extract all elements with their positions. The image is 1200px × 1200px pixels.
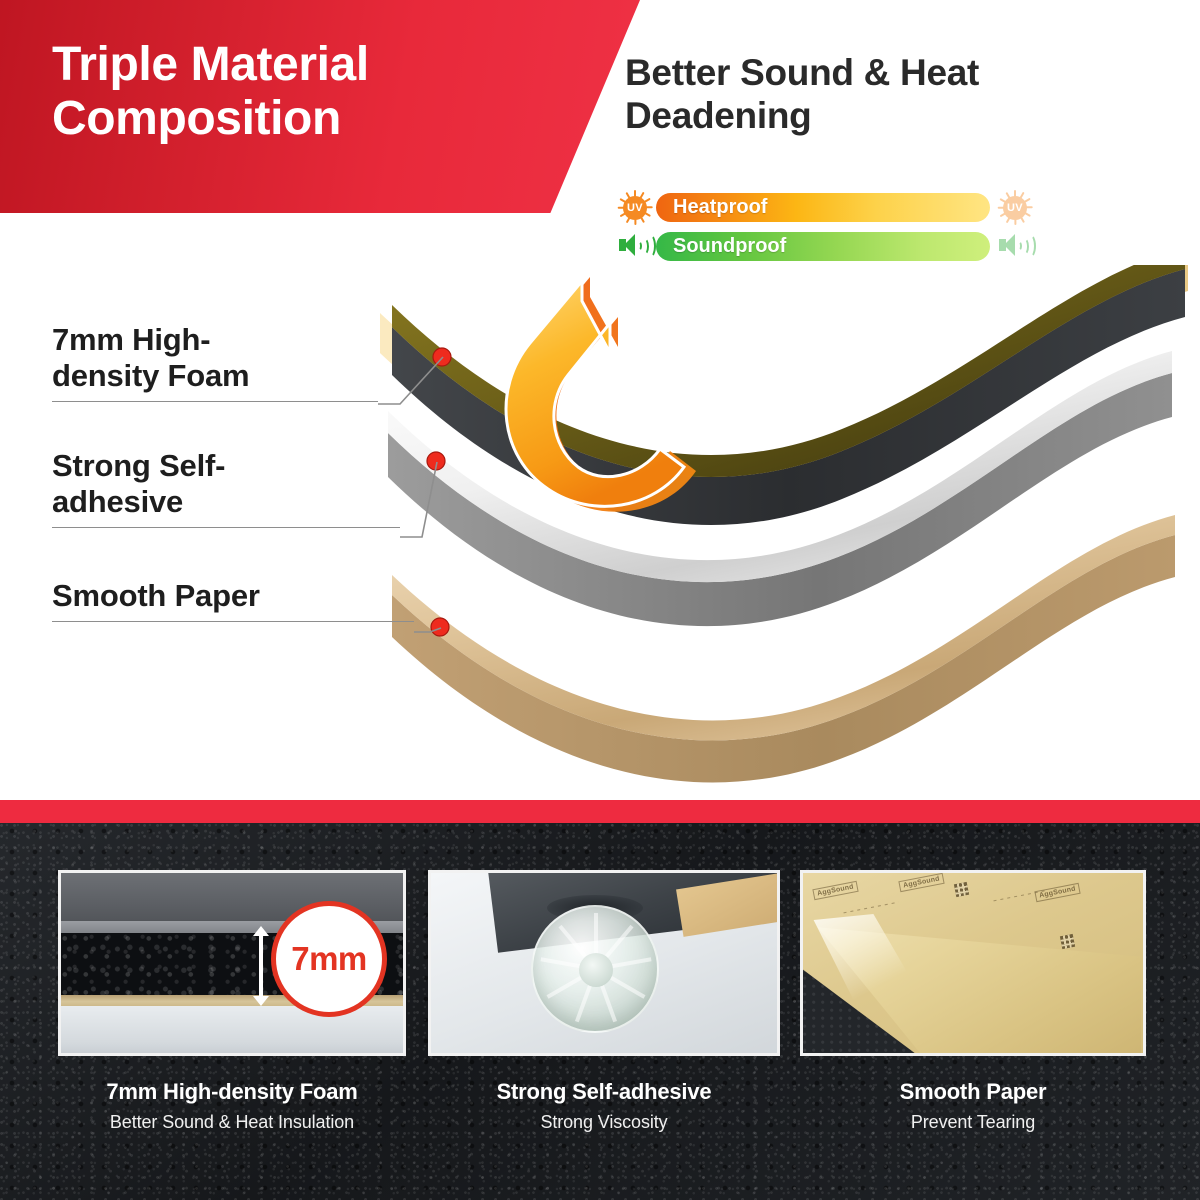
label-foam-text: 7mm High- density Foam xyxy=(52,322,382,394)
label-paper: Smooth Paper xyxy=(52,578,382,622)
foam-cross-section-photo: 7mm xyxy=(58,870,406,1056)
thickness-badge: 7mm xyxy=(271,901,387,1017)
thickness-badge-text: 7mm xyxy=(291,940,367,978)
marker-foam xyxy=(433,348,451,366)
heatproof-label: Heatproof xyxy=(656,196,767,219)
layer-diagram xyxy=(370,265,1200,795)
card-adhesive-title: Strong Self-adhesive xyxy=(428,1079,780,1105)
layer-foam xyxy=(380,265,1188,525)
soundproof-bar-row: Soundproof xyxy=(616,229,1036,263)
label-foam-rule xyxy=(52,401,378,403)
red-divider-bar xyxy=(0,800,1200,823)
uv-label-faded: UV xyxy=(1007,202,1023,214)
heatproof-bar-row: UV Heatproof xyxy=(616,190,1036,224)
feature-card-foam: 7mm 7mm High-density Foam Better Sound &… xyxy=(58,870,406,1133)
label-adhesive-rule xyxy=(52,527,400,529)
soundproof-bar-track: Soundproof xyxy=(656,232,990,261)
card-adhesive-subtitle: Strong Viscosity xyxy=(428,1112,780,1133)
label-paper-text: Smooth Paper xyxy=(52,578,382,614)
kraft-paper-peel-photo: AggSound AggSound AggSound AggSound AggS… xyxy=(800,870,1146,1056)
heatproof-bar-track: Heatproof xyxy=(656,193,990,222)
uv-sun-icon: UV xyxy=(616,190,656,224)
soundproof-label: Soundproof xyxy=(656,235,786,258)
card-foam-title: 7mm High-density Foam xyxy=(58,1079,406,1105)
title-banner: Triple Material Composition xyxy=(0,0,640,213)
feature-bars: UV Heatproof xyxy=(616,190,1036,268)
kraft-brand-mark: AggSound xyxy=(1034,883,1080,902)
speaker-icon xyxy=(616,229,656,263)
speaker-icon-faded xyxy=(996,229,1036,263)
uv-label: UV xyxy=(627,202,643,214)
feature-card-paper: AggSound AggSound AggSound AggSound AggS… xyxy=(800,870,1146,1133)
suction-cup-adhesion-photo xyxy=(428,870,780,1056)
header-right: Better Sound & Heat Deadening xyxy=(625,52,1185,138)
top-section: Triple Material Composition Better Sound… xyxy=(0,0,1200,800)
marker-adhesive xyxy=(427,452,445,470)
thickness-arrow-icon xyxy=(259,935,263,997)
sub-title: Better Sound & Heat Deadening xyxy=(625,52,1095,138)
label-paper-rule xyxy=(52,621,414,623)
label-adhesive: Strong Self- adhesive xyxy=(52,448,382,528)
uv-sun-icon-faded: UV xyxy=(996,190,1036,224)
bottom-section: 7mm 7mm High-density Foam Better Sound &… xyxy=(0,823,1200,1200)
card-foam-subtitle: Better Sound & Heat Insulation xyxy=(58,1112,406,1133)
label-adhesive-text: Strong Self- adhesive xyxy=(52,448,382,520)
banner-title: Triple Material Composition xyxy=(52,38,572,146)
marker-paper xyxy=(431,618,449,636)
card-paper-subtitle: Prevent Tearing xyxy=(800,1112,1146,1133)
kraft-brand-mark: AggSound xyxy=(812,881,858,900)
label-foam: 7mm High- density Foam xyxy=(52,322,382,402)
card-paper-title: Smooth Paper xyxy=(800,1079,1146,1105)
kraft-brand-mark: AggSound xyxy=(898,873,944,892)
feature-card-adhesive: Strong Self-adhesive Strong Viscosity xyxy=(428,870,780,1133)
